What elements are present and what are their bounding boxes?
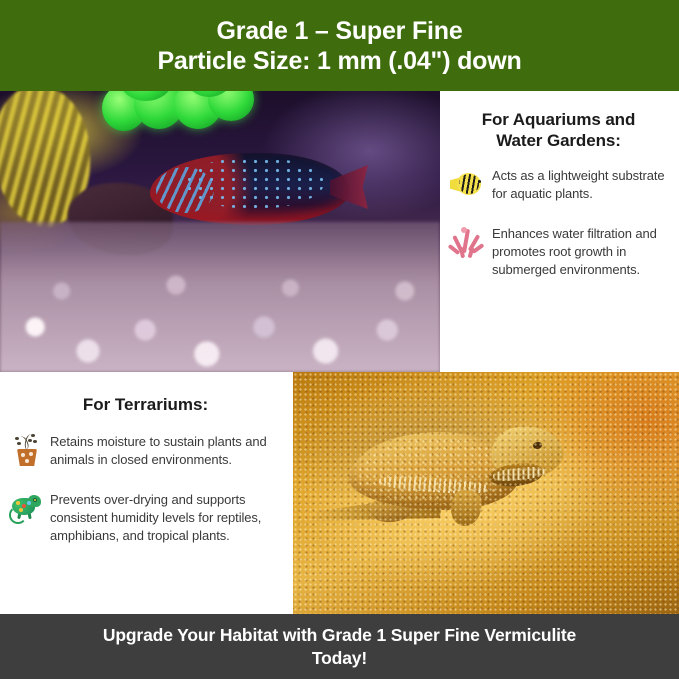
aquarium-bullet-1: Acts as a lightweight substrate for aqua… <box>450 167 667 203</box>
sand-grain-texture <box>293 372 679 614</box>
bearded-dragon-terrarium-photo <box>293 372 679 614</box>
potted-plant-icon <box>8 433 42 467</box>
header-title-line-1: Grade 1 – Super Fine <box>216 16 462 46</box>
aquarium-heading: For Aquariums and Water Gardens: <box>450 109 667 151</box>
aquarium-bullet-1-text: Acts as a lightweight substrate for aqua… <box>492 167 667 203</box>
chameleon-icon <box>8 491 42 525</box>
coral-icon <box>450 225 484 259</box>
tropical-fish-icon <box>450 167 484 201</box>
aquarium-gravel-substrate <box>0 222 440 372</box>
reef-aquarium-photo <box>0 91 440 372</box>
aquarium-heading-line-2: Water Gardens: <box>450 130 667 151</box>
aquarium-bullet-2-text: Enhances water filtration and promotes r… <box>492 225 667 279</box>
footer-cta-line-1: Upgrade Your Habitat with Grade 1 Super … <box>103 624 576 647</box>
terrarium-bullet-1: Retains moisture to sustain plants and a… <box>8 433 283 469</box>
header-title-line-2: Particle Size: 1 mm (.04") down <box>157 46 521 76</box>
aquarium-heading-line-1: For Aquariums and <box>450 109 667 130</box>
terrarium-bullet-1-text: Retains moisture to sustain plants and a… <box>50 433 283 469</box>
aquarium-bullet-2: Enhances water filtration and promotes r… <box>450 225 667 279</box>
terrarium-heading: For Terrariums: <box>8 394 283 415</box>
green-coral-shape <box>100 91 260 139</box>
wrasse-fish-shape <box>150 153 350 225</box>
aquarium-text-panel: For Aquariums and Water Gardens: Acts as… <box>440 91 679 372</box>
terrarium-bullet-2: Prevents over-drying and supports consis… <box>8 491 283 545</box>
product-infographic: Grade 1 – Super Fine Particle Size: 1 mm… <box>0 0 679 679</box>
footer-cta-line-2: Today! <box>312 647 367 670</box>
footer-banner: Upgrade Your Habitat with Grade 1 Super … <box>0 614 679 679</box>
terrarium-text-panel: For Terrariums: Retains moisture to sust… <box>0 372 293 614</box>
terrarium-bullet-2-text: Prevents over-drying and supports consis… <box>50 491 283 545</box>
header-banner: Grade 1 – Super Fine Particle Size: 1 mm… <box>0 0 679 91</box>
